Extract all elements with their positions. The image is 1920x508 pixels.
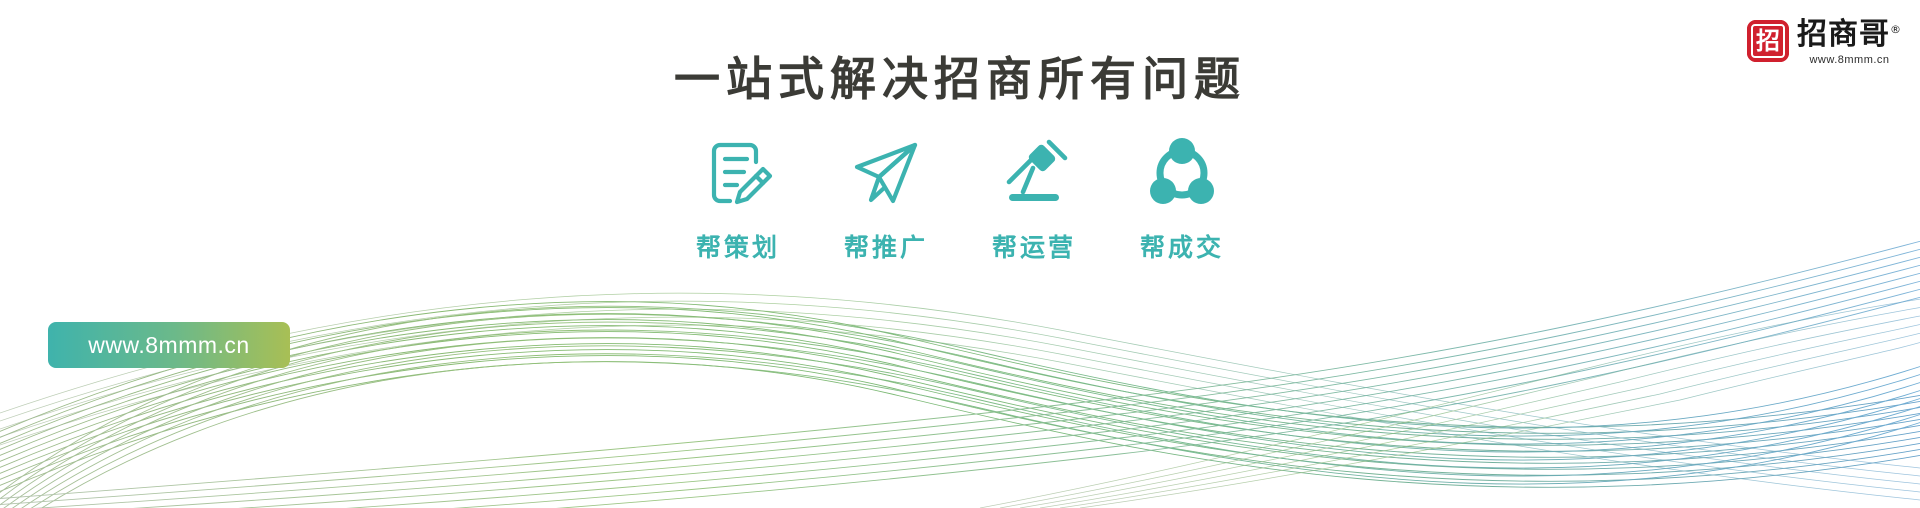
logo-brand-name: 招商哥® <box>1797 20 1902 50</box>
feature-item-promotion[interactable]: 帮推广 <box>812 132 960 264</box>
promo-banner: 招 招商哥® www.8mmm.cn 一站式解决招商所有问题 帮策划 <box>0 0 1920 508</box>
gavel-icon <box>993 132 1075 214</box>
feature-item-planning[interactable]: 帮策划 <box>664 132 812 264</box>
feature-label: 帮策划 <box>696 228 780 264</box>
feature-label: 帮推广 <box>844 228 928 264</box>
page-title: 一站式解决招商所有问题 <box>0 52 1920 107</box>
feature-label: 帮成交 <box>1140 228 1224 264</box>
website-url-badge[interactable]: www.8mmm.cn <box>48 322 290 368</box>
document-pencil-icon <box>697 132 779 214</box>
logo-brand-name-text: 招商哥 <box>1797 17 1890 52</box>
feature-label: 帮运营 <box>992 228 1076 264</box>
website-url-text: www.8mmm.cn <box>88 332 249 359</box>
registered-trademark-icon: ® <box>1890 23 1902 36</box>
logo-mark-glyph: 招 <box>1756 29 1780 53</box>
feature-list: 帮策划 帮推广 <box>0 132 1920 264</box>
network-nodes-icon <box>1141 132 1223 214</box>
feature-item-deal[interactable]: 帮成交 <box>1108 132 1256 264</box>
paper-plane-icon <box>845 132 927 214</box>
feature-item-operations[interactable]: 帮运营 <box>960 132 1108 264</box>
